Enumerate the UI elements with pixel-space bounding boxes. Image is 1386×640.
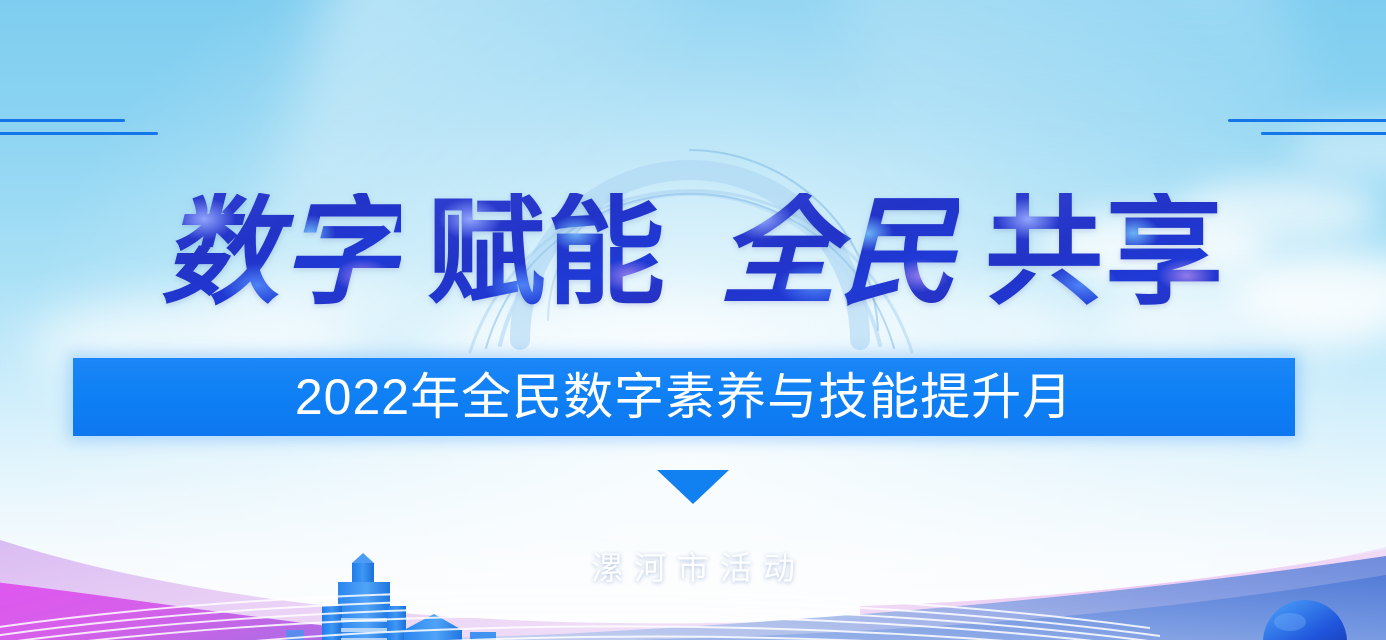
- decor-line: [1261, 132, 1386, 135]
- title-word-3: 全民: [719, 193, 959, 311]
- bottom-illustration: [0, 430, 1386, 640]
- corner-lines-right: [1086, 0, 1386, 180]
- subtitle-banner: 2022年全民数字素养与技能提升月: [73, 358, 1295, 436]
- corner-lines-left: [0, 0, 300, 180]
- decor-line: [0, 119, 125, 122]
- page-title: 数字 赋能 全民 共享: [0, 178, 1386, 326]
- decor-line: [1228, 119, 1386, 122]
- title-word-4: 共享: [985, 193, 1225, 311]
- digital-literacy-campaign-banner: 数字 赋能 全民 共享 2022年全民数字素养与技能提升月: [0, 0, 1386, 640]
- bottom-waves-and-city: [0, 430, 1386, 640]
- subtitle-text: 2022年全民数字素养与技能提升月: [295, 372, 1073, 422]
- title-word-2: 赋能: [427, 193, 667, 311]
- cloud-icon: [1290, 120, 1386, 178]
- city-activity-label: 漯河市活动: [0, 552, 1386, 584]
- title-word-1: 数字: [161, 193, 401, 311]
- decor-line: [0, 132, 158, 135]
